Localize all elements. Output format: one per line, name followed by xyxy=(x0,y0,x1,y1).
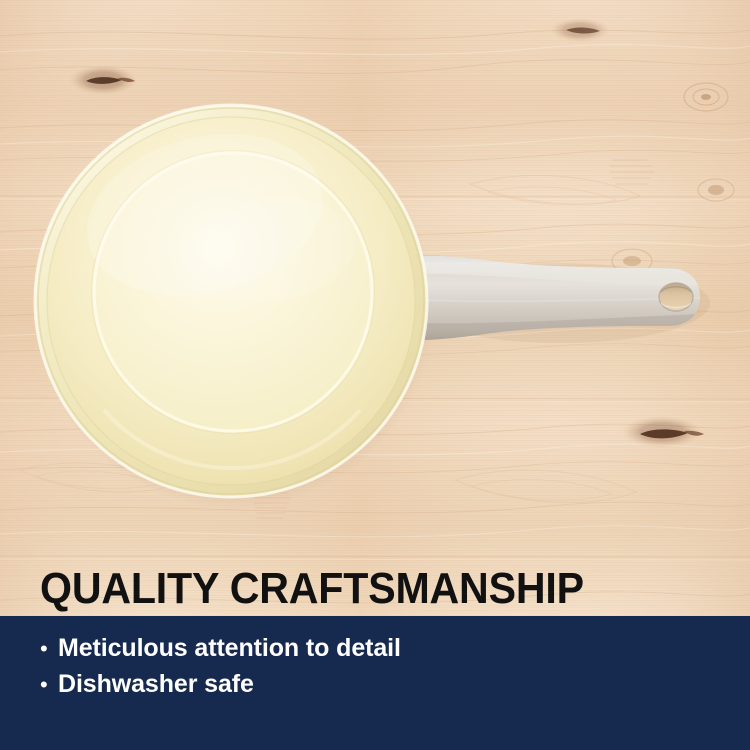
pan-handle-hitbox xyxy=(425,258,705,338)
bullet-dot-icon: • xyxy=(40,667,58,703)
page-title: QUALITY CRAFTSMANSHIP xyxy=(40,566,584,612)
pan-body-hitbox xyxy=(35,100,430,500)
feature-bullet-text: Meticulous attention to detail xyxy=(58,630,401,666)
feature-footer: • Meticulous attention to detail • Dishw… xyxy=(0,616,750,750)
product-feature-card: QUALITY CRAFTSMANSHIP • Meticulous atten… xyxy=(0,0,750,750)
bullet-dot-icon: • xyxy=(40,631,58,667)
feature-bullet-list: • Meticulous attention to detail • Dishw… xyxy=(40,630,401,702)
feature-bullet-text: Dishwasher safe xyxy=(58,666,254,702)
list-item: • Dishwasher safe xyxy=(40,666,401,702)
list-item: • Meticulous attention to detail xyxy=(40,630,401,666)
